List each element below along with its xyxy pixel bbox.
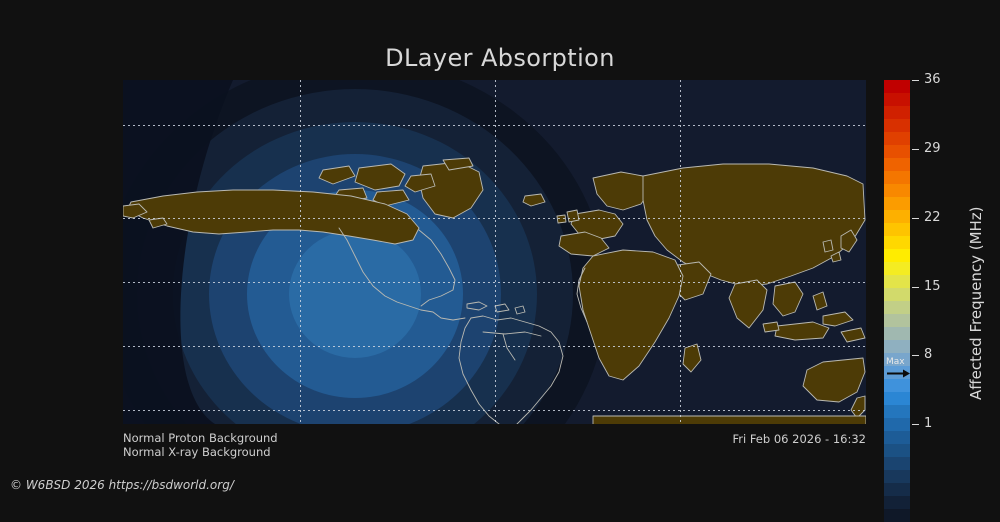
world-map[interactable] — [123, 80, 866, 424]
colorbar-tick-15 — [912, 287, 919, 288]
colorbar-label-1: 1 — [924, 416, 932, 431]
colorbar-tick-36 — [912, 80, 919, 81]
max-marker: Max — [886, 358, 910, 380]
page-title: DLayer Absorption — [0, 44, 1000, 72]
timestamp: Fri Feb 06 2026 - 16:32 — [732, 432, 866, 446]
status-xray-background: Normal X-ray Background — [123, 445, 271, 459]
copyright-notice: © W6BSD 2026 https://bsdworld.org/ — [10, 478, 234, 492]
colorbar-tick-22 — [912, 218, 919, 219]
status-proton-background: Normal Proton Background — [123, 431, 278, 445]
max-arrow-icon — [886, 369, 910, 378]
colorbar-label-15: 15 — [924, 279, 941, 294]
colorbar-label-29: 29 — [924, 141, 941, 156]
colorbar-label-36: 36 — [924, 72, 941, 87]
dlayer-absorption-page: DLayer Absorption — [0, 0, 1000, 500]
map-canvas — [123, 80, 866, 424]
colorbar-tick-1 — [912, 424, 919, 425]
colorbar-tick-29 — [912, 149, 919, 150]
colorbar-tick-8 — [912, 355, 919, 356]
max-marker-label: Max — [886, 358, 905, 367]
colorbar-label-22: 22 — [924, 210, 941, 225]
colorbar-label-8: 8 — [924, 347, 932, 362]
colorbar-axis-title: Affected Frequency (MHz) — [967, 206, 985, 400]
